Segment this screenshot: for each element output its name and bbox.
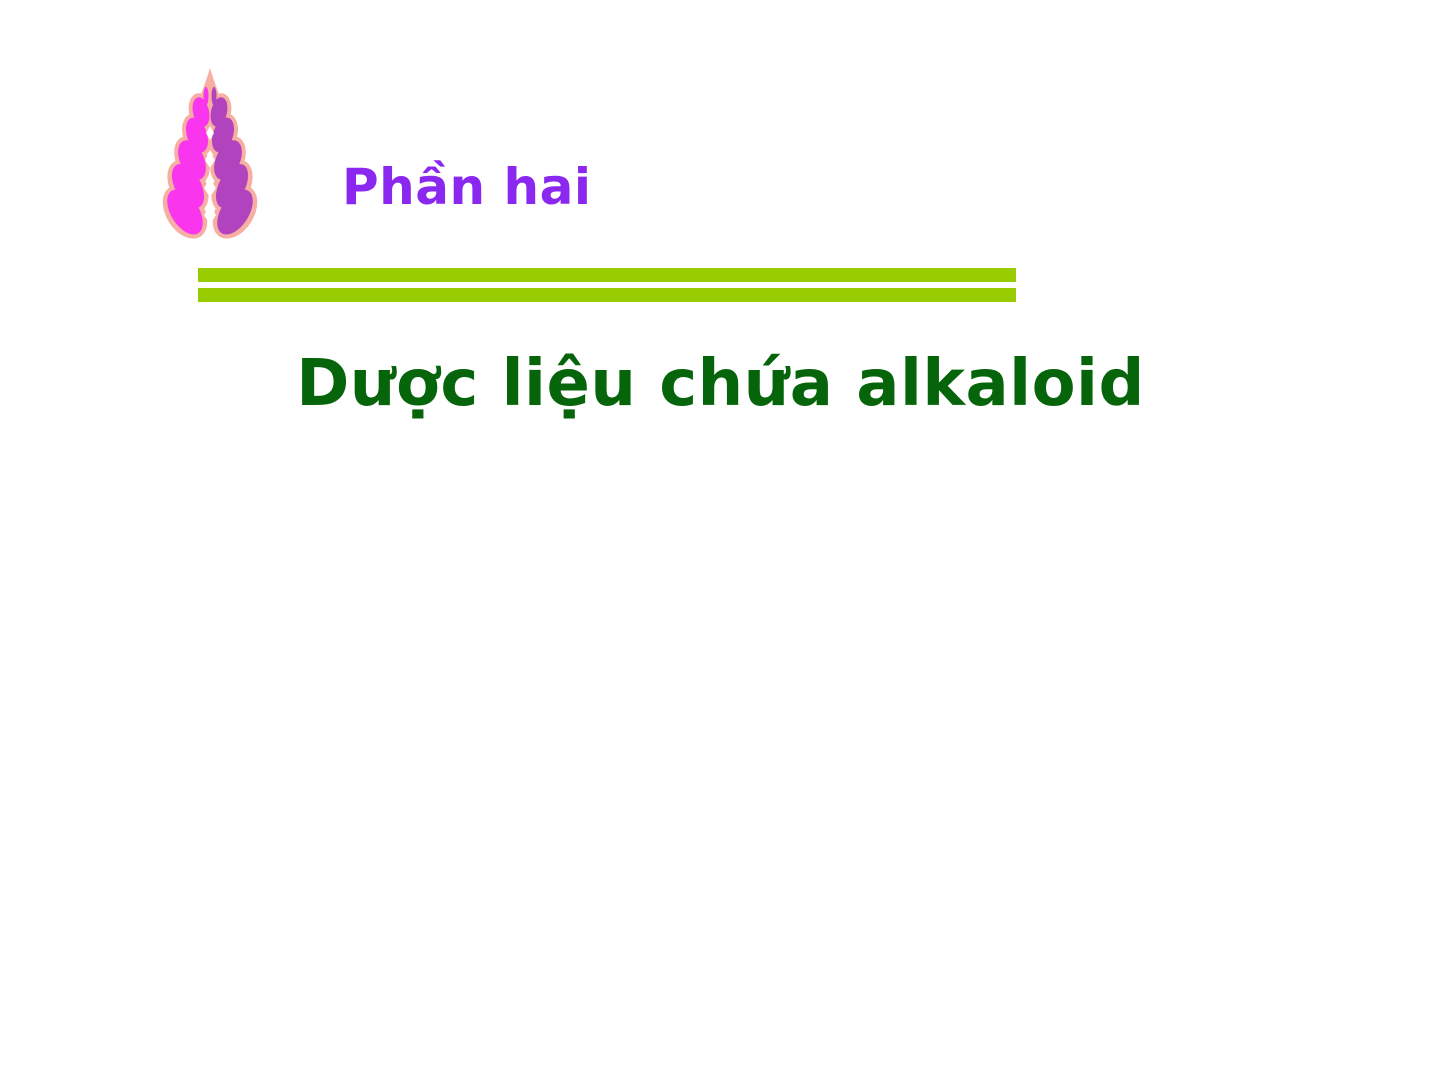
divider-rule-top <box>198 268 1016 282</box>
wheat-ear-icon <box>160 66 260 242</box>
slide-body-placeholder <box>198 470 1278 1030</box>
divider-rule-bottom <box>198 288 1016 302</box>
slide-title: Dược liệu chứa alkaloid <box>0 348 1441 422</box>
slide-canvas: Phần hai Dược liệu chứa alkaloid <box>0 0 1441 1081</box>
section-label: Phần hai <box>342 160 591 215</box>
divider-rules <box>198 268 1016 302</box>
